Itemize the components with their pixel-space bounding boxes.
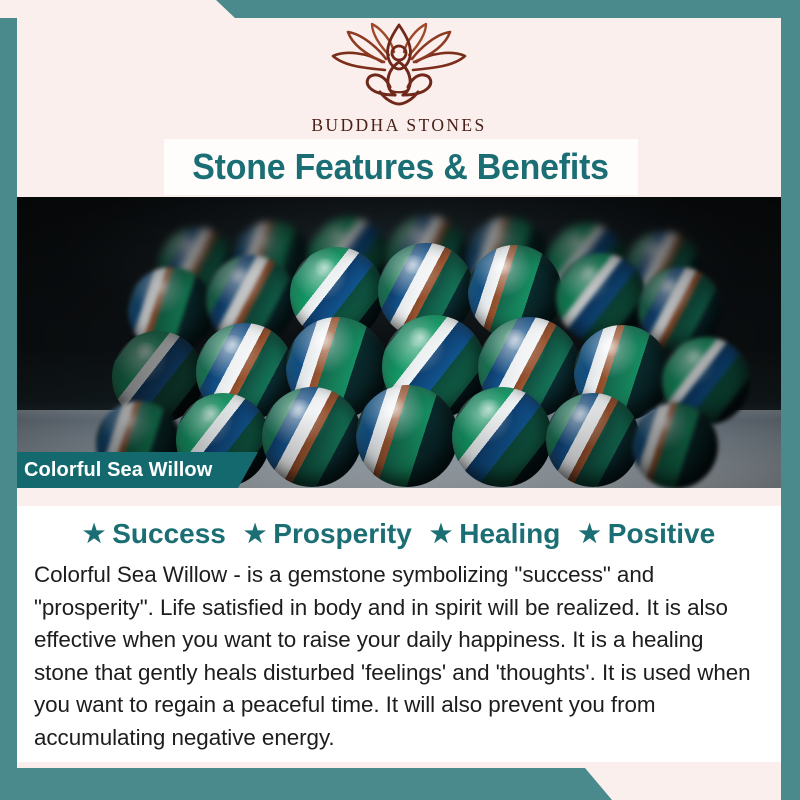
bead <box>452 387 552 487</box>
bead <box>356 385 458 487</box>
description-paragraph: Colorful Sea Willow - is a gemstone symb… <box>17 559 781 754</box>
star-icon: ★ <box>83 522 105 547</box>
bead <box>546 393 640 487</box>
benefit-item-prosperity: ★ Prosperity <box>244 518 412 550</box>
star-icon: ★ <box>430 522 452 547</box>
panel-top-gap <box>17 488 781 506</box>
content-panel: ★ Success ★ Prosperity ★ Healing ★ Posit… <box>17 506 781 762</box>
product-caption-label: Colorful Sea Willow <box>0 452 212 488</box>
bead <box>632 403 718 488</box>
star-icon: ★ <box>578 522 600 547</box>
frame-bottom-bar <box>0 768 800 800</box>
benefit-item-healing: ★ Healing <box>430 518 561 550</box>
benefit-label: Success <box>112 518 226 550</box>
benefit-label: Positive <box>608 518 715 550</box>
page-title-plate: Stone Features & Benefits <box>164 139 638 195</box>
bead <box>262 387 362 487</box>
benefit-item-success: ★ Success <box>83 518 226 550</box>
page-title: Stone Features & Benefits <box>193 146 610 188</box>
frame-top-bar <box>0 0 800 18</box>
benefit-label: Prosperity <box>273 518 412 550</box>
brand-logo: BUDDHA STONES <box>17 22 781 136</box>
frame-left-bar <box>0 18 17 800</box>
product-photo: Colorful Sea Willow <box>0 197 800 488</box>
product-caption-banner: Colorful Sea Willow <box>0 452 212 488</box>
lotus-meditation-icon <box>324 22 474 114</box>
brand-name: BUDDHA STONES <box>311 115 486 136</box>
star-icon: ★ <box>244 522 266 547</box>
frame-right-bar <box>781 0 800 800</box>
benefits-row: ★ Success ★ Prosperity ★ Healing ★ Posit… <box>17 506 781 550</box>
poster-root: BUDDHA STONES Stone Features & Benefits <box>0 0 800 800</box>
benefit-item-positive: ★ Positive <box>578 518 715 550</box>
benefit-label: Healing <box>459 518 560 550</box>
